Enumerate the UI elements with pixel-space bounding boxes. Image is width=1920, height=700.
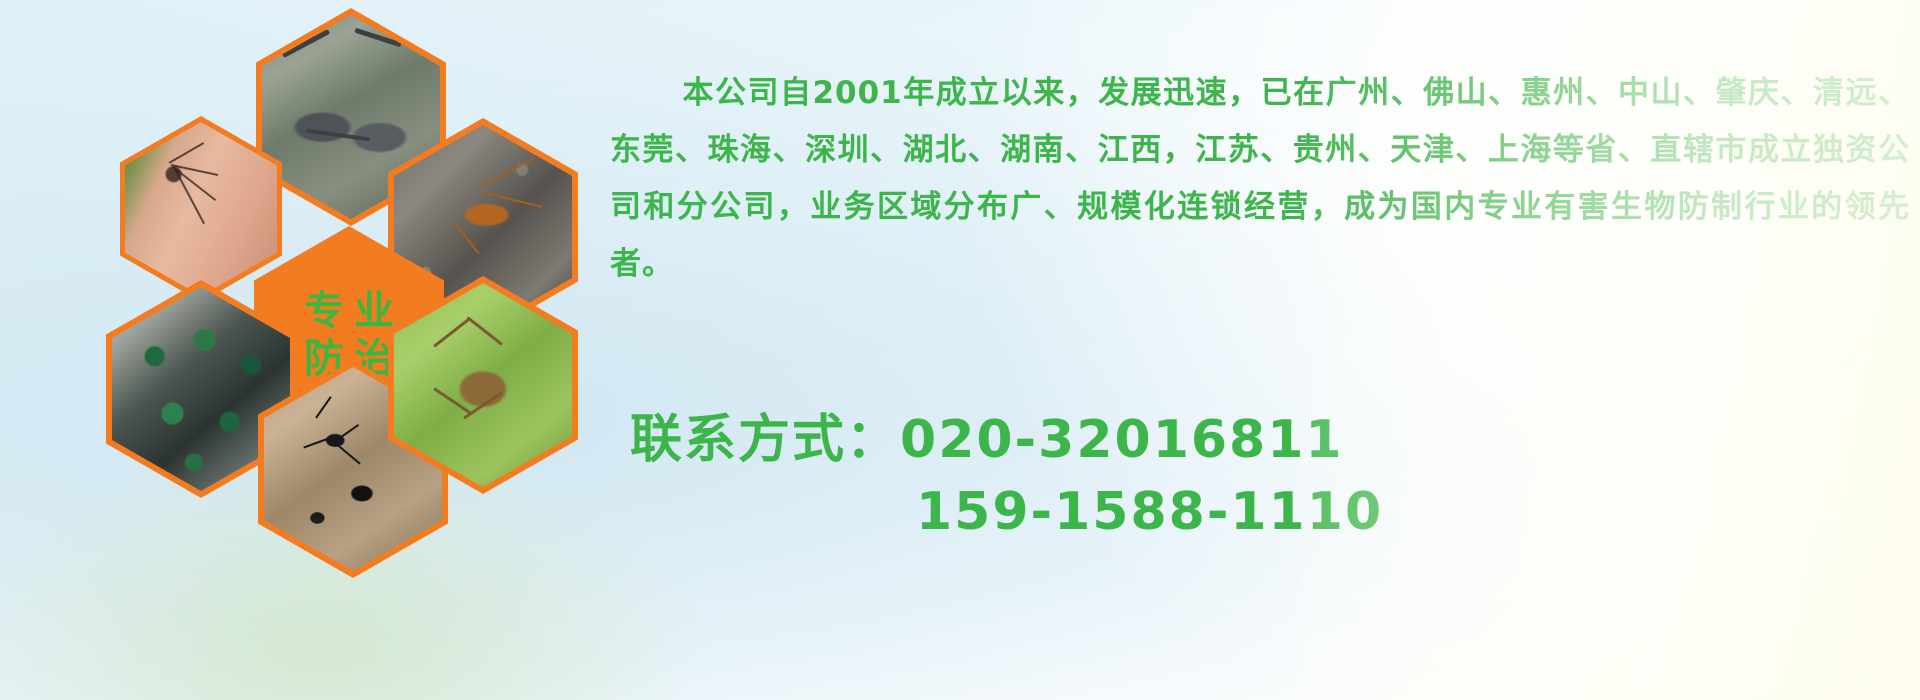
ant-leg-icon (303, 437, 330, 448)
bug-leg-icon (433, 387, 473, 415)
rat-tail-icon (306, 129, 370, 142)
roach-leg-icon (453, 221, 479, 254)
hexagon-collage: 专业 防治 (88, 8, 588, 568)
mosquito-photo (125, 122, 277, 296)
bug-leg-icon (463, 391, 503, 419)
roach-antenna-icon (482, 158, 534, 187)
slogan-line-1: 专业 (294, 290, 404, 332)
phone-primary[interactable]: 020-32016811 (900, 410, 1344, 470)
stink-bug-photo (394, 283, 572, 487)
hex-image-mosquito (125, 122, 277, 296)
contact-line-primary: 联系方式：020-32016811 (630, 404, 1920, 476)
rat-tail-icon (282, 29, 330, 58)
hex-image-stink-bug (394, 283, 572, 487)
bug-leg-icon (466, 316, 503, 345)
ant-leg-icon (333, 441, 360, 464)
ant-leg-icon (333, 424, 359, 443)
company-paragraph-text: 本公司自2001年成立以来，发展迅速，已在广州、佛山、惠州、中山、肇庆、清远、东… (610, 75, 1910, 282)
phone-secondary[interactable]: 159-1588-1110 (916, 482, 1383, 542)
contact-label: 联系方式： (630, 410, 900, 470)
copy-block: 本公司自2001年成立以来，发展迅速，已在广州、佛山、惠州、中山、肇庆、清远、东… (610, 34, 1910, 324)
bug-leg-icon (433, 318, 470, 347)
rat-tail-icon (354, 28, 401, 48)
company-paragraph: 本公司自2001年成立以来，发展迅速，已在广州、佛山、惠州、中山、肇庆、清远、东… (610, 65, 1910, 293)
mosquito-leg-icon (169, 142, 205, 164)
mosquito-leg-icon (174, 169, 205, 225)
banner-canvas: 专业 防治 (0, 0, 1920, 700)
roach-antenna-icon (482, 191, 543, 208)
contact-block: 联系方式：020-32016811 159-1588-1110 (630, 404, 1920, 548)
contact-line-secondary: 159-1588-1110 (630, 476, 1920, 548)
ant-antenna-icon (315, 396, 332, 418)
